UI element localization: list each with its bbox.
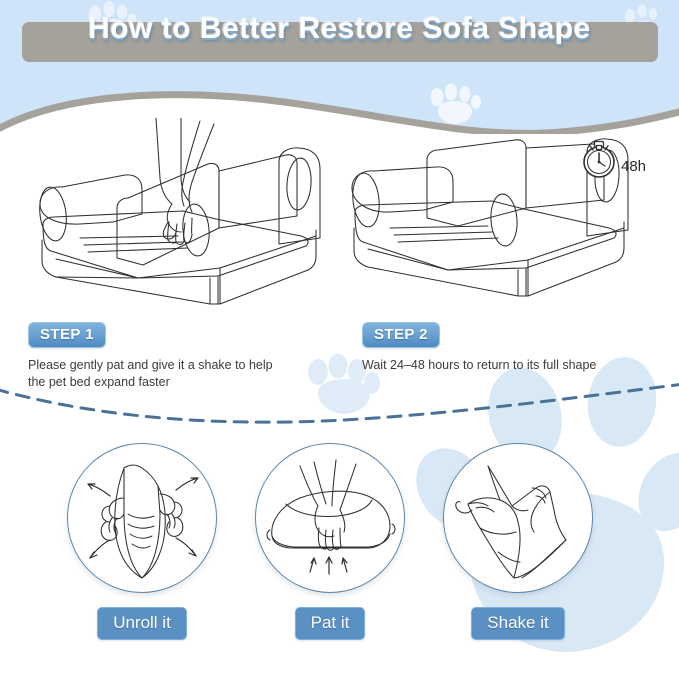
hands-unrolling-cloth-icon <box>68 444 216 592</box>
infographic-page: How to Better Restore Sofa Shape <box>0 0 679 676</box>
timer-label: 48h <box>621 158 646 175</box>
paw-print-icon <box>431 84 482 125</box>
shake-it-label[interactable]: Shake it <box>471 607 564 640</box>
step-1-line-1: Please gently pat and give it a shake to… <box>28 357 273 374</box>
step-1-illustration <box>18 118 338 308</box>
step-2-block: STEP 2 Wait 24–48 hours to return to its… <box>362 322 596 374</box>
header-band: How to Better Restore Sofa Shape <box>0 0 679 134</box>
hand-patting-cushion-icon <box>256 444 404 592</box>
hands-shaking-cloth-icon <box>444 444 592 592</box>
action-shake-it[interactable]: Shake it <box>443 443 593 640</box>
step-2-description: Wait 24–48 hours to return to its full s… <box>362 357 596 374</box>
pat-it-circle <box>255 443 405 593</box>
shake-it-circle <box>443 443 593 593</box>
unroll-it-circle <box>67 443 217 593</box>
step-2-badge: STEP 2 <box>362 322 440 348</box>
dashed-wave-divider <box>0 375 679 435</box>
action-pat-it[interactable]: Pat it <box>255 443 405 640</box>
page-title: How to Better Restore Sofa Shape <box>0 12 679 46</box>
step-1-badge: STEP 1 <box>28 322 106 348</box>
unroll-it-label[interactable]: Unroll it <box>97 607 187 640</box>
step-2-line-1: Wait 24–48 hours to return to its full s… <box>362 357 596 374</box>
sofa-with-patting-hand-icon <box>18 118 338 308</box>
step-2-illustration <box>340 130 640 310</box>
action-unroll-it[interactable]: Unroll it <box>67 443 217 640</box>
sofa-with-stopwatch-icon <box>340 130 640 310</box>
pat-it-label[interactable]: Pat it <box>295 607 366 640</box>
